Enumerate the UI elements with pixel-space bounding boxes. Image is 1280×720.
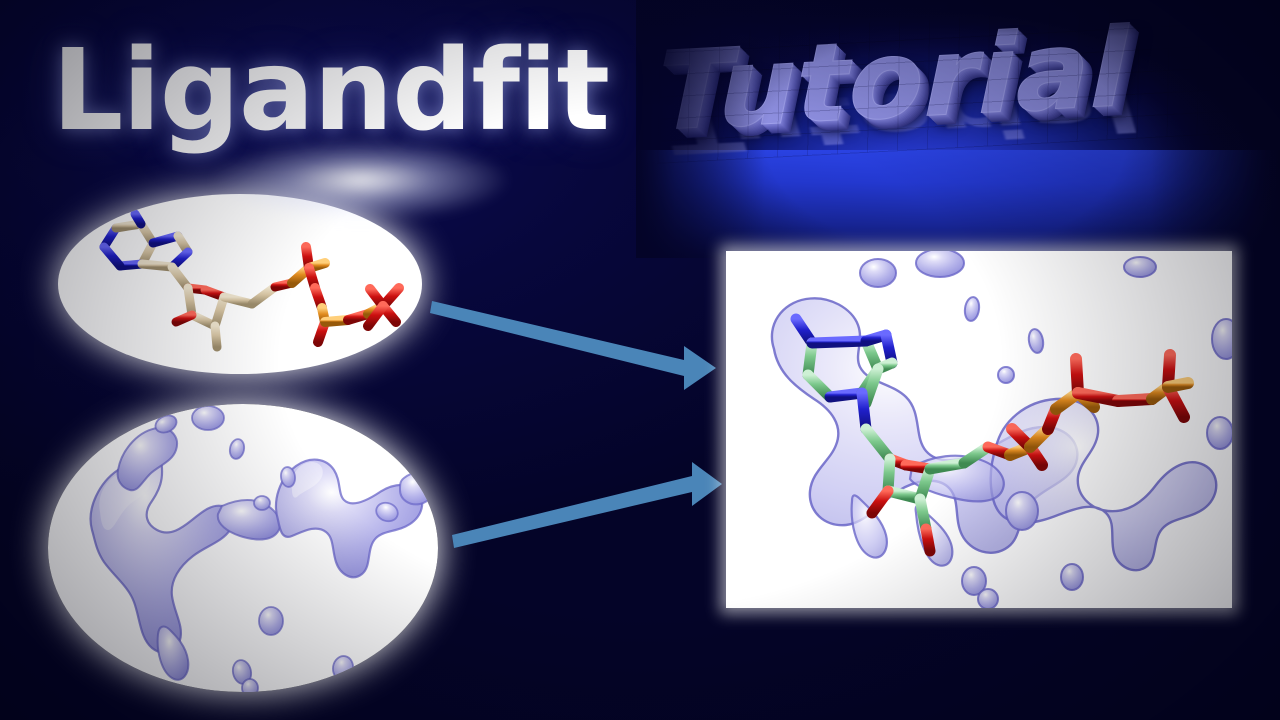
tutorial-3d-graphic: Tutorial Tutorial [636,0,1280,258]
fitted-ligand-svg [726,251,1232,608]
page-title: Ligandfit [52,24,652,159]
tutorial-floor-fade [636,0,1280,258]
slide-root: Tutorial Tutorial [0,0,1280,720]
density-ellipse-halo [48,404,438,692]
fitted-ligand-panel [726,251,1232,608]
ligand-ellipse-halo [58,194,422,374]
